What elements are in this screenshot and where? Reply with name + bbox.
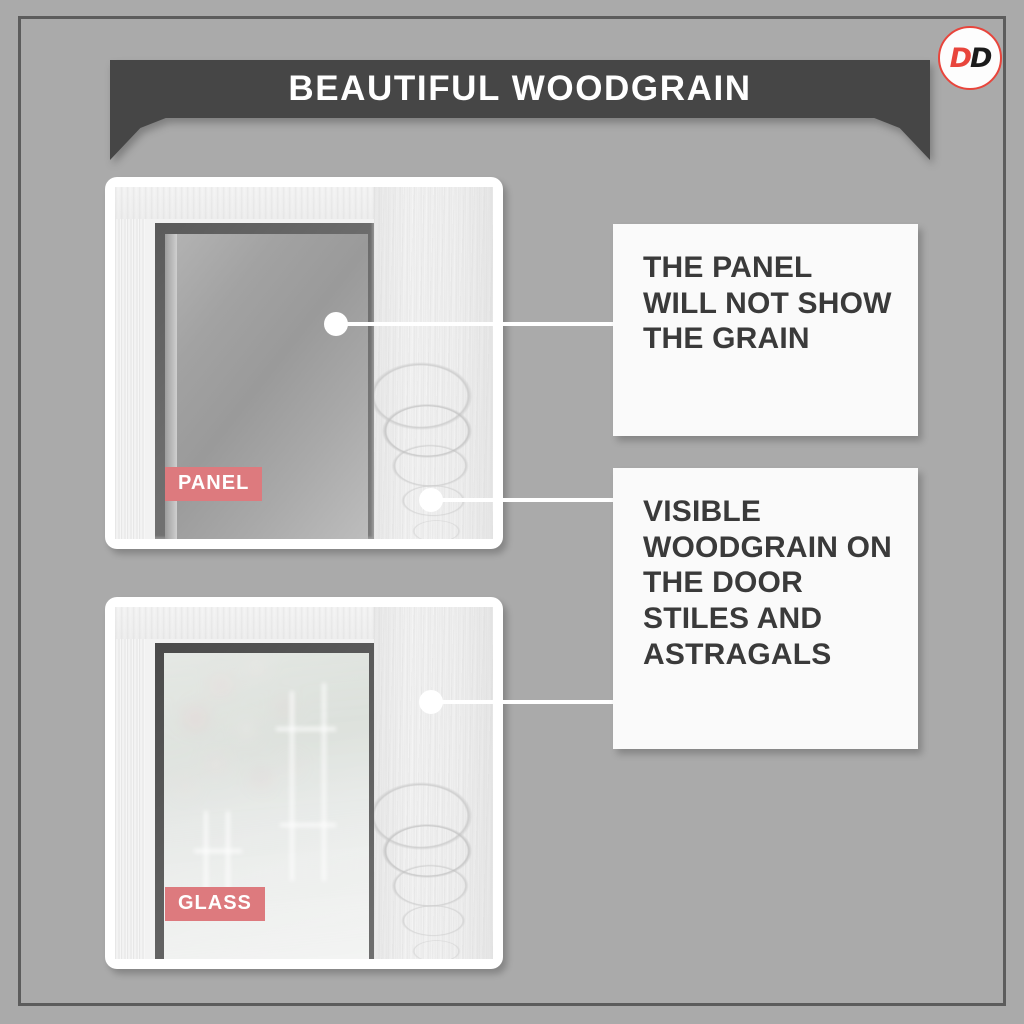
top-rail (115, 187, 374, 219)
panel-door-photo: PANEL (115, 187, 493, 539)
woodgrain-stile (374, 187, 493, 539)
callout-dot-grain-top (419, 488, 443, 512)
logo-letter-second: D (970, 43, 990, 74)
logo-letters: DD (950, 45, 991, 72)
infographic-canvas: DD BEAUTIFUL WOODGRAIN PANEL (0, 0, 1024, 1024)
page-title: BEAUTIFUL WOODGRAIN (110, 60, 930, 118)
callout-grain-text: VISIBLE WOODGRAIN ON THE DOOR STILES AND… (613, 468, 918, 749)
panel-image-card[interactable]: PANEL (105, 177, 503, 549)
dd-logo[interactable]: DD (938, 26, 1002, 90)
logo-letter-first: D (950, 43, 970, 74)
leader-line-panel (335, 322, 620, 326)
glass-image-card[interactable]: GLASS (105, 597, 503, 969)
callout-panel-text: THE PANEL WILL NOT SHOW THE GRAIN (613, 224, 918, 436)
panel-tag: PANEL (165, 467, 262, 501)
callout-dot-grain-bottom (419, 690, 443, 714)
leader-line-grain-bottom (430, 700, 620, 704)
callout-dot-panel (324, 312, 348, 336)
top-rail (115, 607, 374, 639)
left-moulding (115, 187, 145, 539)
glass-door-photo: GLASS (115, 607, 493, 959)
woodgrain-stile (374, 607, 493, 959)
leader-line-grain-top (430, 498, 620, 502)
glass-tag: GLASS (165, 887, 265, 921)
banner: BEAUTIFUL WOODGRAIN (110, 60, 930, 160)
left-moulding (115, 607, 145, 959)
